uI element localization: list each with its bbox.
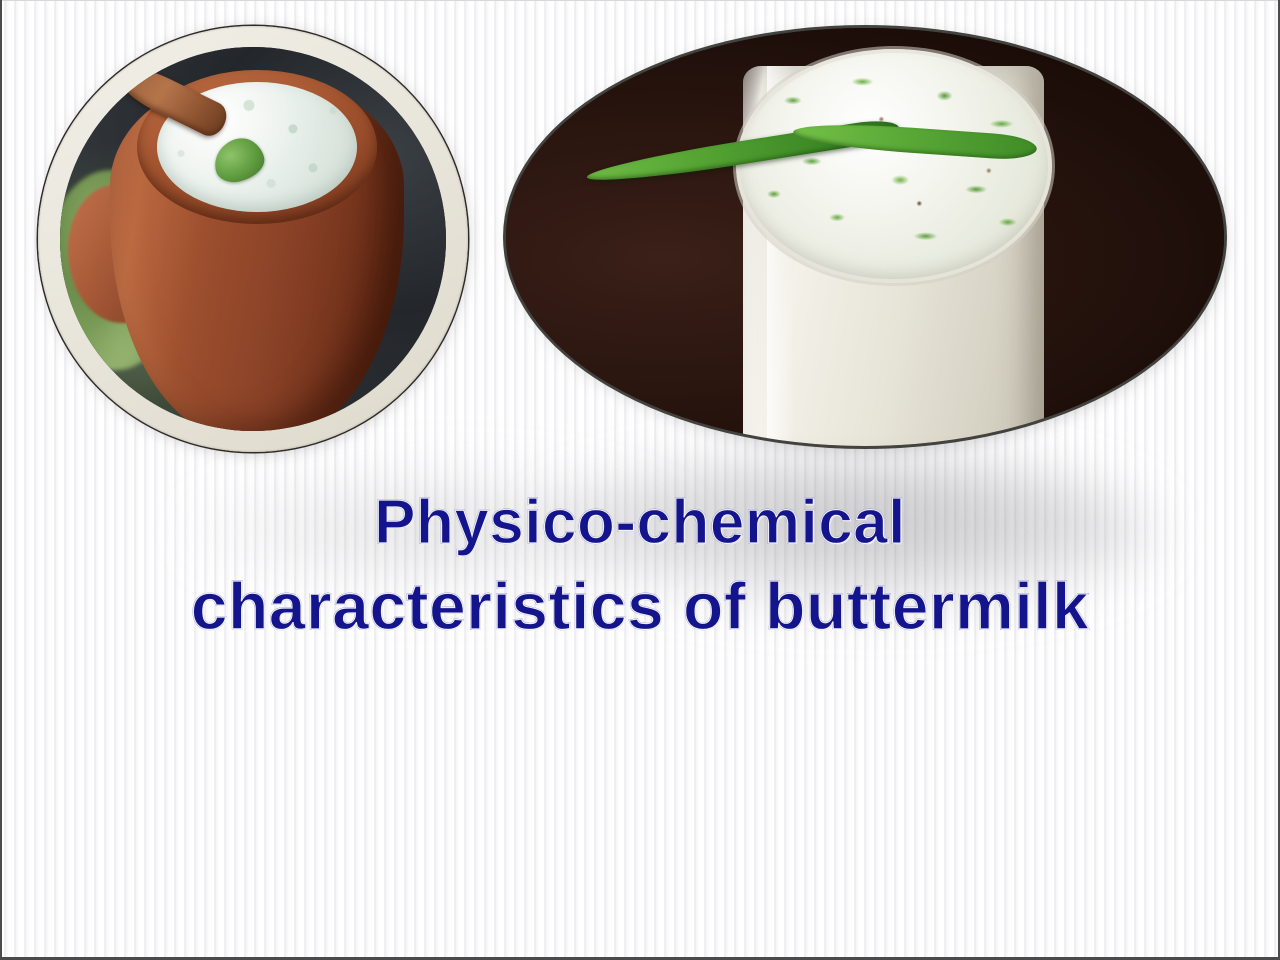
title-inner-outline: Physico-chemical (0, 490, 1280, 557)
slide-title: Physico-chemicalPhysico-chemical charact… (0, 490, 1280, 642)
dark-oval-rim (506, 28, 1224, 446)
title-line-2: characteristics of buttermilkcharacteris… (0, 571, 1280, 642)
cream-oval-frame (38, 26, 468, 452)
presentation-slide: Physico-chemicalPhysico-chemical charact… (0, 0, 1280, 960)
photo-clip-circle (60, 47, 446, 431)
slide-border-top (0, 0, 1280, 1)
title-line-1: Physico-chemicalPhysico-chemical (0, 490, 1280, 557)
slide-border-left (0, 0, 2, 960)
title-inner-outline: characteristics of buttermilk (0, 571, 1280, 642)
spiced-buttermilk (736, 49, 1052, 283)
glass-buttermilk-photo (506, 28, 1224, 446)
clay-pot-buttermilk-photo (38, 26, 468, 452)
